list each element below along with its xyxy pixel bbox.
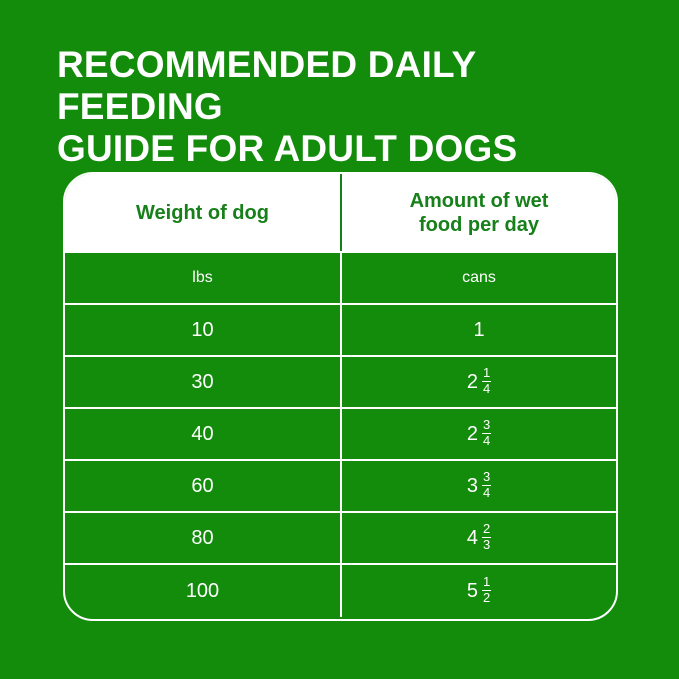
fraction: 2 3 <box>482 522 491 551</box>
whole-number: 1 <box>473 320 484 340</box>
whole-number: 5 <box>467 581 478 601</box>
cell-weight: 100 <box>65 565 342 617</box>
mixed-number: 4 2 3 <box>467 523 491 552</box>
table-row: 40 2 3 4 <box>65 409 616 461</box>
fraction-denominator: 3 <box>482 537 491 552</box>
fraction-numerator: 3 <box>482 418 491 432</box>
cell-weight: 60 <box>65 461 342 511</box>
unit-label-cans: cans <box>342 253 616 303</box>
cell-weight: 40 <box>65 409 342 459</box>
cell-amount: 3 3 4 <box>342 461 616 511</box>
whole-number: 3 <box>467 476 478 496</box>
fraction-denominator: 4 <box>482 381 491 396</box>
fraction-numerator: 1 <box>482 366 491 380</box>
page-title: Recommended daily feeding guide for adul… <box>57 44 647 170</box>
column-header-amount: Amount of wet food per day <box>342 174 616 251</box>
feeding-guide-page: Recommended daily feeding guide for adul… <box>0 0 679 679</box>
fraction-numerator: 2 <box>482 522 491 536</box>
cell-amount: 1 <box>342 305 616 355</box>
table-units-row: lbs cans <box>65 253 616 305</box>
feeding-guide-table: Weight of dog Amount of wet food per day… <box>63 172 618 621</box>
fraction: 1 4 <box>482 366 491 395</box>
cell-amount: 5 1 2 <box>342 565 616 617</box>
cell-amount: 2 3 4 <box>342 409 616 459</box>
unit-label-lbs: lbs <box>65 253 342 303</box>
cell-weight: 10 <box>65 305 342 355</box>
whole-number: 4 <box>467 528 478 548</box>
whole-number: 2 <box>467 372 478 392</box>
table-row: 60 3 3 4 <box>65 461 616 513</box>
mixed-number: 3 3 4 <box>467 471 491 500</box>
mixed-number: 1 <box>473 320 484 340</box>
table-row: 10 1 <box>65 305 616 357</box>
table-header-row: Weight of dog Amount of wet food per day <box>65 174 616 253</box>
fraction: 3 4 <box>482 470 491 499</box>
table-row: 30 2 1 4 <box>65 357 616 409</box>
cell-weight: 80 <box>65 513 342 563</box>
fraction-denominator: 4 <box>482 433 491 448</box>
table-row: 80 4 2 3 <box>65 513 616 565</box>
fraction-numerator: 3 <box>482 470 491 484</box>
fraction-denominator: 2 <box>482 590 491 605</box>
fraction-denominator: 4 <box>482 485 491 500</box>
fraction: 1 2 <box>482 575 491 604</box>
cell-amount: 4 2 3 <box>342 513 616 563</box>
fraction-numerator: 1 <box>482 575 491 589</box>
column-header-weight: Weight of dog <box>65 174 342 251</box>
cell-weight: 30 <box>65 357 342 407</box>
cell-amount: 2 1 4 <box>342 357 616 407</box>
whole-number: 2 <box>467 424 478 444</box>
table-row: 100 5 1 2 <box>65 565 616 617</box>
mixed-number: 2 1 4 <box>467 367 491 396</box>
fraction: 3 4 <box>482 418 491 447</box>
mixed-number: 5 1 2 <box>467 576 491 605</box>
mixed-number: 2 3 4 <box>467 419 491 448</box>
